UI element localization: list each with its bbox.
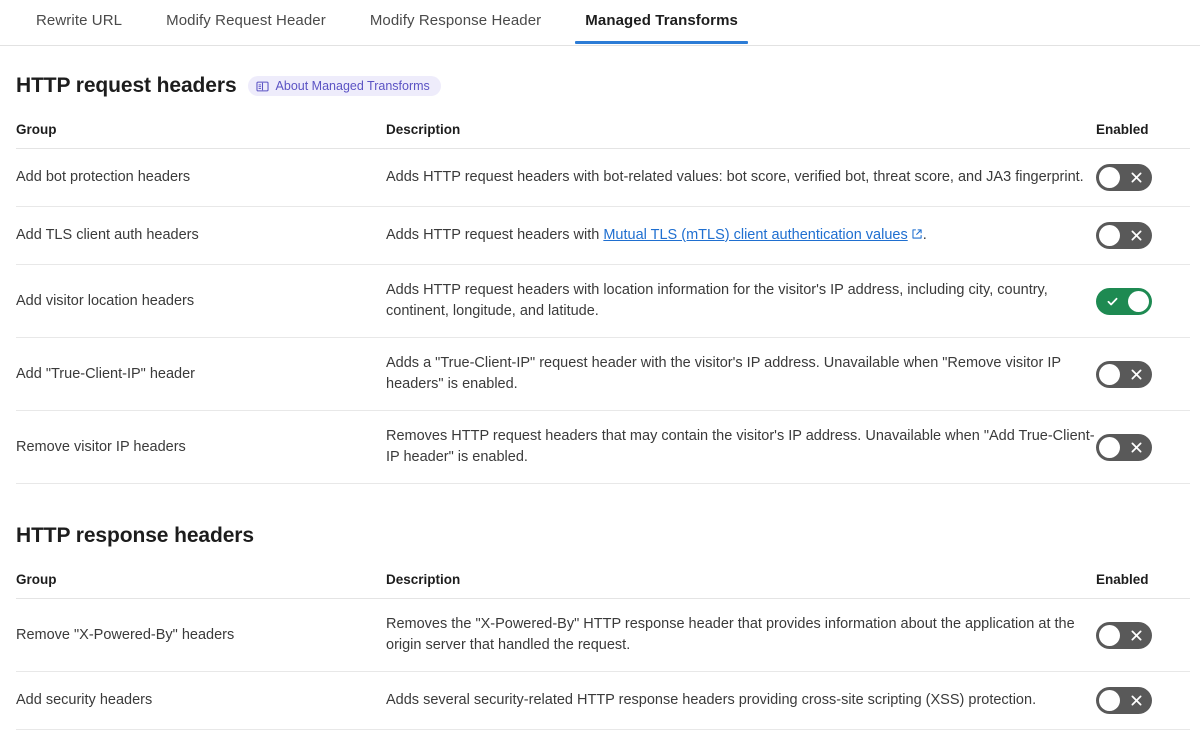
http-response-headers-section: HTTP response headers Group Description … [0, 524, 1200, 730]
column-header-group: Group [16, 562, 386, 599]
column-header-enabled: Enabled [1096, 112, 1190, 149]
tab-modify-request-header[interactable]: Modify Request Header [144, 0, 348, 43]
toggle-knob [1128, 291, 1149, 312]
enabled-toggle[interactable] [1096, 687, 1152, 714]
row-enabled-cell [1096, 411, 1190, 484]
toggle-knob [1099, 625, 1120, 646]
close-icon [1120, 687, 1152, 714]
close-icon [1120, 222, 1152, 249]
row-group-label: Add bot protection headers [16, 149, 386, 207]
row-group-label: Add visitor location headers [16, 265, 386, 338]
row-group-label: Add TLS client auth headers [16, 207, 386, 265]
request-section-header: HTTP request headers About Managed Trans… [16, 74, 1184, 98]
toggle-knob [1099, 225, 1120, 246]
enabled-toggle[interactable] [1096, 361, 1152, 388]
row-enabled-cell [1096, 338, 1190, 411]
description-suffix: . [923, 227, 927, 243]
row-enabled-cell [1096, 599, 1190, 672]
row-description: Adds HTTP request headers with Mutual TL… [386, 207, 1096, 265]
row-description: Removes HTTP request headers that may co… [386, 411, 1096, 484]
table-row: Remove "X-Powered-By" headers Removes th… [16, 599, 1190, 672]
toggle-knob [1099, 364, 1120, 385]
table-row: Add TLS client auth headers Adds HTTP re… [16, 207, 1190, 265]
tab-modify-response-header[interactable]: Modify Response Header [348, 0, 563, 43]
tab-bar: Rewrite URL Modify Request Header Modify… [0, 0, 1200, 46]
http-request-headers-section: HTTP request headers About Managed Trans… [0, 74, 1200, 484]
column-header-description: Description [386, 562, 1096, 599]
table-row: Add bot protection headers Adds HTTP req… [16, 149, 1190, 207]
request-headers-table: Group Description Enabled Add bot protec… [16, 112, 1190, 484]
tab-managed-transforms[interactable]: Managed Transforms [563, 0, 760, 43]
row-enabled-cell [1096, 149, 1190, 207]
response-section-title: HTTP response headers [16, 524, 254, 548]
toggle-knob [1099, 437, 1120, 458]
tab-rewrite-url[interactable]: Rewrite URL [14, 0, 144, 43]
table-header-row: Group Description Enabled [16, 112, 1190, 149]
mtls-doc-link[interactable]: Mutual TLS (mTLS) client authentication … [603, 227, 907, 243]
table-row: Add "True-Client-IP" header Adds a "True… [16, 338, 1190, 411]
check-icon [1096, 288, 1128, 315]
row-group-label: Add security headers [16, 672, 386, 730]
about-managed-transforms-link[interactable]: About Managed Transforms [248, 76, 441, 96]
toggle-knob [1099, 690, 1120, 711]
enabled-toggle[interactable] [1096, 222, 1152, 249]
table-row: Remove visitor IP headers Removes HTTP r… [16, 411, 1190, 484]
enabled-toggle[interactable] [1096, 622, 1152, 649]
table-row: Add security headers Adds several securi… [16, 672, 1190, 730]
row-group-label: Remove "X-Powered-By" headers [16, 599, 386, 672]
table-row: Add visitor location headers Adds HTTP r… [16, 265, 1190, 338]
row-enabled-cell [1096, 265, 1190, 338]
row-description: Removes the "X-Powered-By" HTTP response… [386, 599, 1096, 672]
row-description: Adds several security-related HTTP respo… [386, 672, 1096, 730]
toggle-knob [1099, 167, 1120, 188]
column-header-description: Description [386, 112, 1096, 149]
row-group-label: Remove visitor IP headers [16, 411, 386, 484]
response-section-header: HTTP response headers [16, 524, 1184, 548]
row-enabled-cell [1096, 207, 1190, 265]
row-description: Adds HTTP request headers with location … [386, 265, 1096, 338]
book-icon [256, 80, 269, 93]
row-group-label: Add "True-Client-IP" header [16, 338, 386, 411]
close-icon [1120, 164, 1152, 191]
table-header-row: Group Description Enabled [16, 562, 1190, 599]
close-icon [1120, 361, 1152, 388]
close-icon [1120, 622, 1152, 649]
response-headers-table: Group Description Enabled Remove "X-Powe… [16, 562, 1190, 730]
page-title: HTTP request headers [16, 74, 237, 98]
enabled-toggle[interactable] [1096, 434, 1152, 461]
external-link-icon [911, 226, 923, 247]
column-header-group: Group [16, 112, 386, 149]
row-description: Adds HTTP request headers with bot-relat… [386, 149, 1096, 207]
row-enabled-cell [1096, 672, 1190, 730]
column-header-enabled: Enabled [1096, 562, 1190, 599]
about-badge-label: About Managed Transforms [276, 79, 430, 93]
row-description: Adds a "True-Client-IP" request header w… [386, 338, 1096, 411]
close-icon [1120, 434, 1152, 461]
description-prefix: Adds HTTP request headers with [386, 227, 603, 243]
enabled-toggle[interactable] [1096, 164, 1152, 191]
enabled-toggle[interactable] [1096, 288, 1152, 315]
